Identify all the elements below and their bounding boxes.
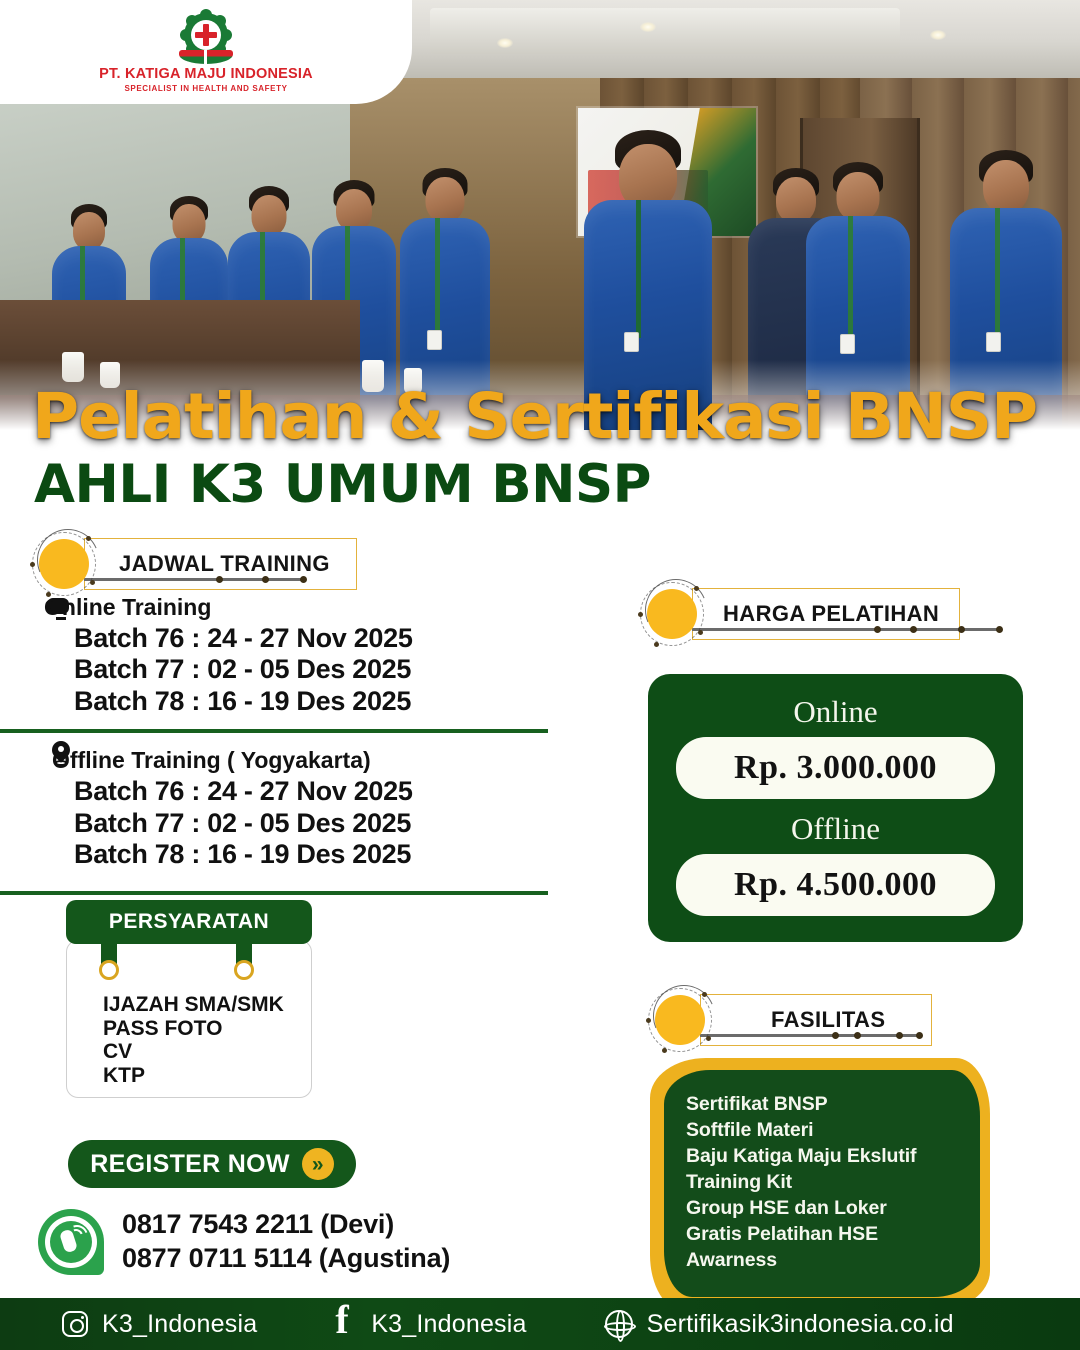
schedule-group-online: Online Training Batch 76 : 24 - 27 Nov 2… [0, 590, 560, 723]
logo-card: K3 INDONESIA PT. KATIGA MAJU INDONESIA S… [0, 0, 412, 104]
register-now-button[interactable]: REGISTER NOW » [68, 1140, 356, 1188]
facility-item: Training Kit [686, 1170, 964, 1196]
whatsapp-icon [38, 1209, 104, 1275]
schedule-batch-list: Batch 76 : 24 - 27 Nov 2025 Batch 77 : 0… [44, 776, 413, 871]
company-tagline: SPECIALIST IN HEALTH AND SAFETY [41, 84, 371, 93]
requirements-header: PERSYARATAN [66, 900, 312, 944]
hanger-eyelet [234, 960, 254, 980]
hero-title-secondary: AHLI K3 UMUM BNSP [34, 458, 651, 511]
requirement-item: KTP [103, 1064, 311, 1088]
price-amount: Rp. 4.500.000 [734, 866, 937, 904]
footer-facebook[interactable]: K3_Indonesia [335, 1309, 526, 1339]
facility-item: Softfile Materi [686, 1118, 964, 1144]
requirement-item: CV [103, 1040, 311, 1064]
decorative-circle-badge [644, 984, 716, 1056]
footer-bar: K3_Indonesia K3_Indonesia Sertifikasik3i… [0, 1298, 1080, 1350]
price-underline [692, 628, 1002, 631]
poster-root: K3 INDONESIA PT. KATIGA MAJU INDONESIA S… [0, 0, 1080, 1350]
footer-instagram-handle: K3_Indonesia [102, 1310, 257, 1339]
location-pin-icon [52, 741, 70, 759]
decorative-circle-badge [636, 578, 708, 650]
schedule-batch-list: Batch 76 : 24 - 27 Nov 2025 Batch 77 : 0… [44, 623, 413, 718]
schedule-group-label: Offline Training ( Yogyakarta) [44, 747, 413, 775]
k3-gear-cross-logo-icon: K3 INDONESIA [173, 8, 239, 64]
register-now-label: REGISTER NOW [90, 1150, 289, 1179]
footer-facebook-handle: K3_Indonesia [371, 1310, 526, 1339]
monitor-icon [47, 598, 69, 614]
company-name: PT. KATIGA MAJU INDONESIA [41, 67, 371, 82]
contact-line: 0817 7543 2211 (Devi) [122, 1208, 450, 1242]
price-title: HARGA PELATIHAN [723, 601, 939, 627]
double-chevron-right-icon: » [302, 1148, 334, 1180]
price-tier-label: Offline [676, 813, 995, 844]
schedule-batch: Batch 77 : 02 - 05 Des 2025 [44, 808, 413, 840]
facilities-title: FASILITAS [771, 1007, 885, 1033]
price-pill: Rp. 3.000.000 [676, 737, 995, 799]
schedule-divider [0, 891, 548, 895]
downlight [640, 22, 656, 32]
price-block: Online Rp. 3.000.000 Offline Rp. 4.500.0… [648, 674, 1023, 942]
contact-line: 0877 0711 5114 (Agustina) [122, 1242, 450, 1276]
requirements-title: PERSYARATAN [109, 910, 269, 934]
price-card: Online Rp. 3.000.000 Offline Rp. 4.500.0… [648, 674, 1023, 942]
price-section-header: HARGA PELATIHAN [636, 578, 960, 650]
schedule-batch: Batch 77 : 02 - 05 Des 2025 [44, 654, 413, 686]
facility-item: Group HSE dan Loker [686, 1196, 964, 1222]
hero-title-primary: Pelatihan & Sertifikasi BNSP [32, 385, 1037, 448]
schedule-batch: Batch 76 : 24 - 27 Nov 2025 [44, 776, 413, 808]
instagram-icon [62, 1311, 88, 1337]
price-pill: Rp. 4.500.000 [676, 854, 995, 916]
facility-item: Gratis Pelatihan HSE Awarness [686, 1222, 964, 1274]
facilities-block: Sertifikat BNSP Softfile Materi Baju Kat… [650, 1058, 990, 1311]
price-tier-label: Online [676, 696, 995, 727]
facility-item: Baju Katiga Maju Ekslutif [686, 1144, 964, 1170]
facilities-underline [700, 1034, 922, 1037]
downlight [930, 30, 946, 40]
facility-item: Sertifikat BNSP [686, 1092, 964, 1118]
globe-icon [605, 1310, 633, 1338]
facebook-icon [335, 1309, 357, 1339]
schedule-batch: Batch 78 : 16 - 19 Des 2025 [44, 686, 413, 718]
whatsapp-numbers: 0817 7543 2211 (Devi) 0877 0711 5114 (Ag… [122, 1208, 450, 1276]
price-amount: Rp. 3.000.000 [734, 749, 937, 787]
footer-website[interactable]: Sertifikasik3indonesia.co.id [605, 1310, 954, 1339]
book-icon [179, 50, 233, 64]
whatsapp-contact[interactable]: 0817 7543 2211 (Devi) 0877 0711 5114 (Ag… [38, 1208, 450, 1276]
schedule-title: JADWAL TRAINING [119, 551, 330, 577]
facilities-section-header: FASILITAS [644, 984, 932, 1056]
schedule-block: Online Training Batch 76 : 24 - 27 Nov 2… [0, 590, 560, 899]
requirement-item: PASS FOTO [103, 1017, 311, 1041]
price-title-frame: HARGA PELATIHAN [692, 588, 960, 640]
footer-instagram[interactable]: K3_Indonesia [62, 1310, 257, 1339]
decorative-circle-badge [28, 528, 100, 600]
requirement-item: IJAZAH SMA/SMK [103, 993, 311, 1017]
schedule-batch: Batch 76 : 24 - 27 Nov 2025 [44, 623, 413, 655]
footer-website-url: Sertifikasik3indonesia.co.id [647, 1310, 954, 1339]
downlight [497, 38, 513, 48]
hanger-eyelet [99, 960, 119, 980]
schedule-divider [0, 729, 548, 733]
schedule-batch: Batch 78 : 16 - 19 Des 2025 [44, 839, 413, 871]
facilities-outer-frame: Sertifikat BNSP Softfile Materi Baju Kat… [650, 1058, 990, 1311]
facilities-card: Sertifikat BNSP Softfile Materi Baju Kat… [664, 1070, 980, 1297]
schedule-underline [84, 578, 306, 581]
requirements-block: PERSYARATAN IJAZAH SMA/SMK PASS FOTO CV … [66, 900, 312, 1102]
schedule-group-offline: Offline Training ( Yogyakarta) Batch 76 … [0, 737, 560, 876]
